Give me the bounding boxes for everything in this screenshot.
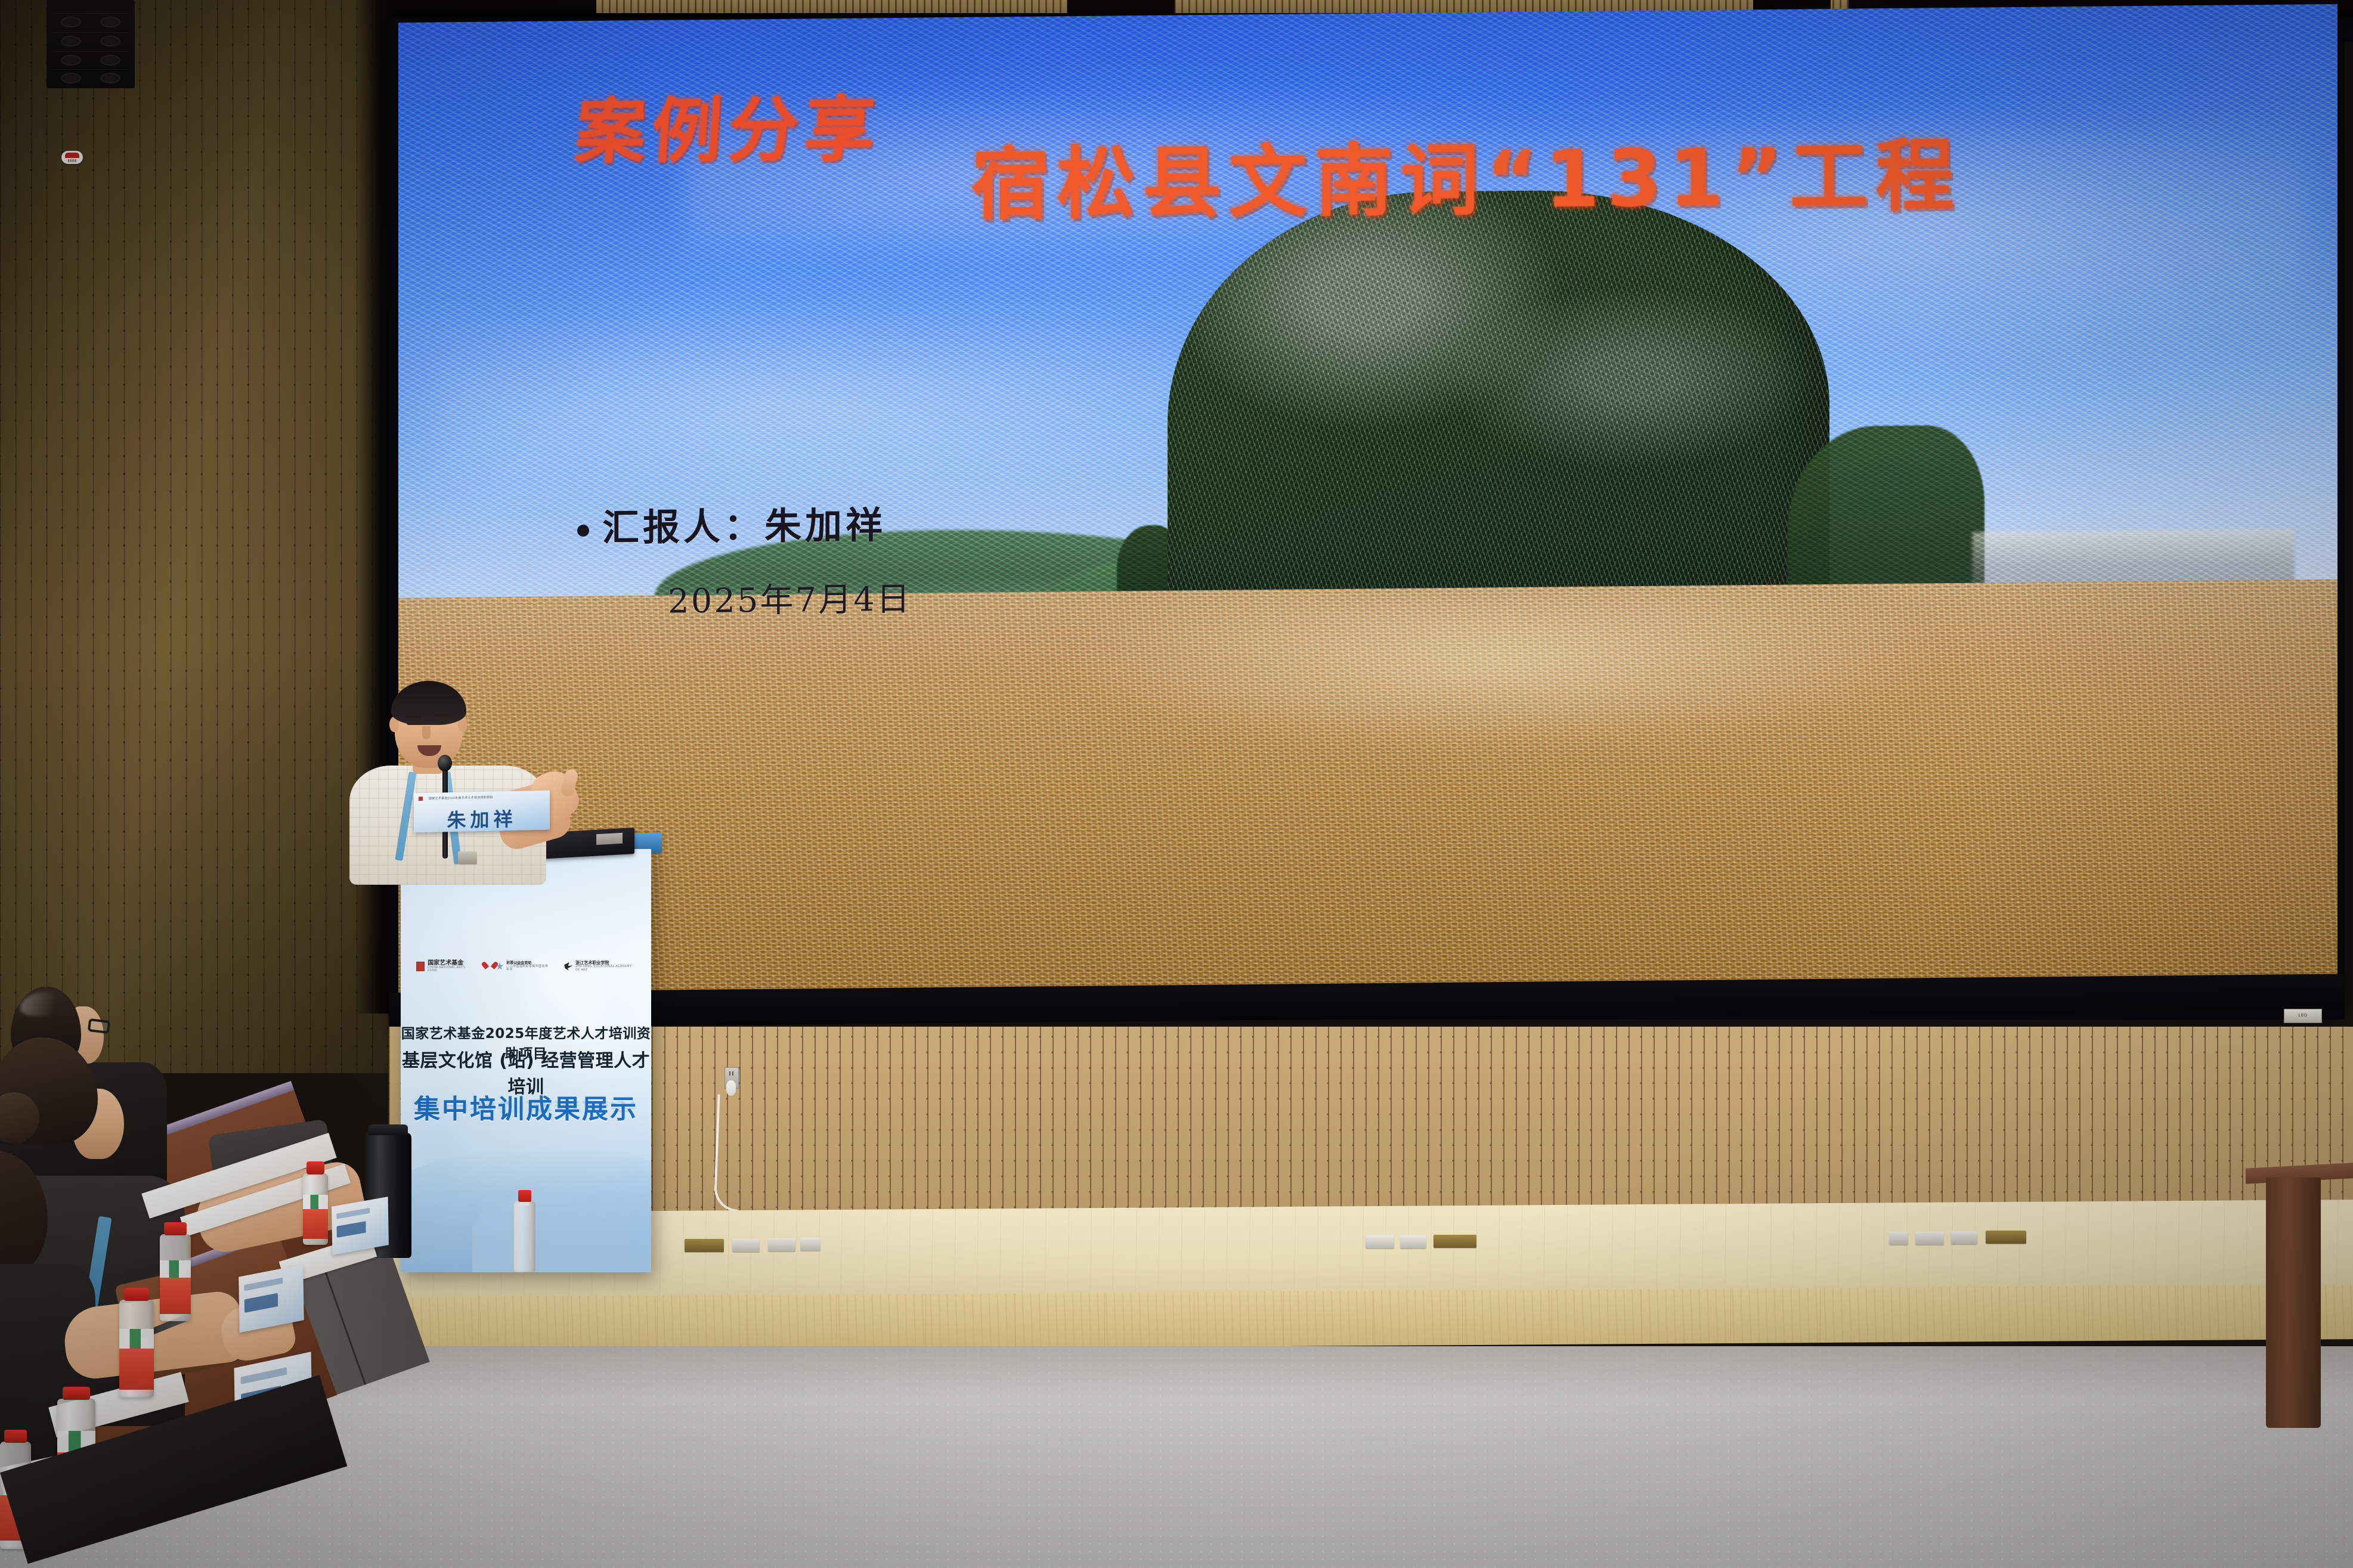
podium-logo-row: 国家艺术基金 CHINA NATIONAL ARTS FUND 彩票公益金资助 …: [416, 954, 637, 979]
name-card-header: [336, 1207, 370, 1219]
bottle-cap: [124, 1288, 149, 1301]
presenter-nameplate: 国家艺术基金2025年度艺术人才培训资助项目 朱加祥: [414, 791, 550, 833]
floor-box: [1366, 1235, 1394, 1248]
audience-person-1-glasses-icon: [88, 1018, 110, 1034]
floor-box: [800, 1238, 821, 1251]
slide-date: 2025年7月4日: [668, 572, 912, 623]
national-art-fund-seal-icon: [416, 962, 425, 971]
alarm-red-indicator: [65, 153, 79, 158]
bottle-cap: [518, 1190, 531, 1202]
water-bottle-podium: [514, 1201, 535, 1272]
alarm-speaker-grill-icon: [68, 159, 76, 162]
slide-kicker: 案例分享: [572, 72, 885, 176]
floor-box: [1951, 1231, 1977, 1244]
screen-corner-plate: LED: [2284, 1009, 2322, 1023]
outlet-slots-icon: [729, 1071, 735, 1076]
floor-box: [1889, 1232, 1908, 1245]
bottle-label: [119, 1349, 154, 1390]
bottle-label-green: [303, 1195, 328, 1209]
bottle-cap: [164, 1222, 186, 1235]
bottle-label: [303, 1209, 328, 1239]
slide-presenter-line: 汇报人：朱加祥: [577, 495, 886, 551]
presenter-eyebrow-left: [405, 715, 421, 718]
nameplate-header: 国家艺术基金2025年度艺术人才培训资助项目: [419, 793, 544, 802]
right-table-leg: [2266, 1177, 2321, 1428]
presenter-badge: [458, 851, 477, 864]
slide-title: 宿松县文南词“131”工程: [971, 112, 1961, 235]
bottle-cap: [4, 1430, 26, 1443]
bottle-label-green: [160, 1260, 191, 1278]
conference-hall-photo: 案例分享 宿松县文南词“131”工程 汇报人：朱加祥 2025年7月4日 LED: [0, 0, 2353, 1568]
name-card-header: [240, 1368, 287, 1385]
floor-box: [768, 1238, 795, 1251]
name-card-text: [336, 1218, 384, 1238]
name-card-header: [244, 1277, 283, 1291]
logo-sublabel: ——中国福利彩票和中国体育彩票: [506, 965, 549, 972]
water-bottle: [303, 1173, 328, 1245]
presenter-nose: [422, 726, 431, 739]
bullet-icon: [577, 525, 589, 537]
logo-sublabel: CHINA NATIONAL ARTS FUND: [428, 966, 470, 973]
microphone-head-icon: [438, 755, 452, 771]
floor-box: [1400, 1235, 1426, 1248]
stage-back-wall: [389, 1027, 2353, 1214]
floor-box: [685, 1239, 724, 1252]
line-array-speaker: [47, 0, 135, 88]
floor-box: [1986, 1231, 2026, 1244]
outlet-white-cable: [714, 1094, 742, 1211]
water-bottle: [119, 1300, 154, 1397]
presenter-hair: [391, 681, 466, 725]
logo-group: 国家艺术基金 CHINA NATIONAL ARTS FUND: [416, 960, 470, 973]
podium: 国家艺术基金 CHINA NATIONAL ARTS FUND 彩票公益金资助 …: [401, 849, 651, 1272]
outlet-plug[interactable]: [726, 1080, 736, 1096]
thermos-lid: [369, 1124, 408, 1135]
emergency-alarm-button[interactable]: [61, 151, 83, 164]
presenter-text: 汇报人：朱加祥: [602, 503, 886, 550]
logo-group: 浙江艺术职业学院 ZHEJIANG VOCATIONAL ACADEMY OF …: [564, 961, 637, 972]
bottle-label-green: [119, 1329, 154, 1349]
podium-headline-reflection: 集中培训成果展示: [401, 1099, 651, 1116]
academy-bird-icon: [564, 962, 572, 971]
floor-box: [732, 1239, 760, 1252]
presenter-eyebrow-right: [435, 714, 450, 717]
left-wall-shading: [0, 0, 398, 1073]
nameplate-name: 朱加祥: [414, 804, 550, 833]
speaker-mount-bracket: [82, 0, 112, 13]
logo-group: 彩票公益金资助 ——中国福利彩票和中国体育彩票: [485, 962, 549, 972]
name-card: [332, 1197, 389, 1255]
bottle-cap: [306, 1161, 324, 1175]
laptop-sticker: [596, 833, 623, 845]
name-card-text: [244, 1289, 299, 1313]
floor-box: [1434, 1235, 1476, 1248]
logo-sublabel: ZHEJIANG VOCATIONAL ACADEMY OF ART: [575, 965, 637, 972]
bottle-label: [160, 1278, 191, 1314]
slide-text-layer: 案例分享 宿松县文南词“131”工程 汇报人：朱加祥 2025年7月4日: [398, 4, 2337, 993]
water-bottle: [160, 1234, 191, 1321]
bottle-cap: [63, 1387, 90, 1400]
welfare-lottery-heart-icon: [485, 962, 493, 971]
floor-box: [1915, 1232, 1944, 1245]
nameplate-header-text: 国家艺术基金2025年度艺术人才培训资助项目: [429, 795, 493, 801]
presenter-eye-right: [435, 720, 450, 724]
nameplate-seal-icon: [419, 797, 423, 801]
led-screen-display: 案例分享 宿松县文南词“131”工程 汇报人：朱加祥 2025年7月4日: [398, 4, 2337, 993]
presenter-eye-left: [407, 721, 421, 725]
